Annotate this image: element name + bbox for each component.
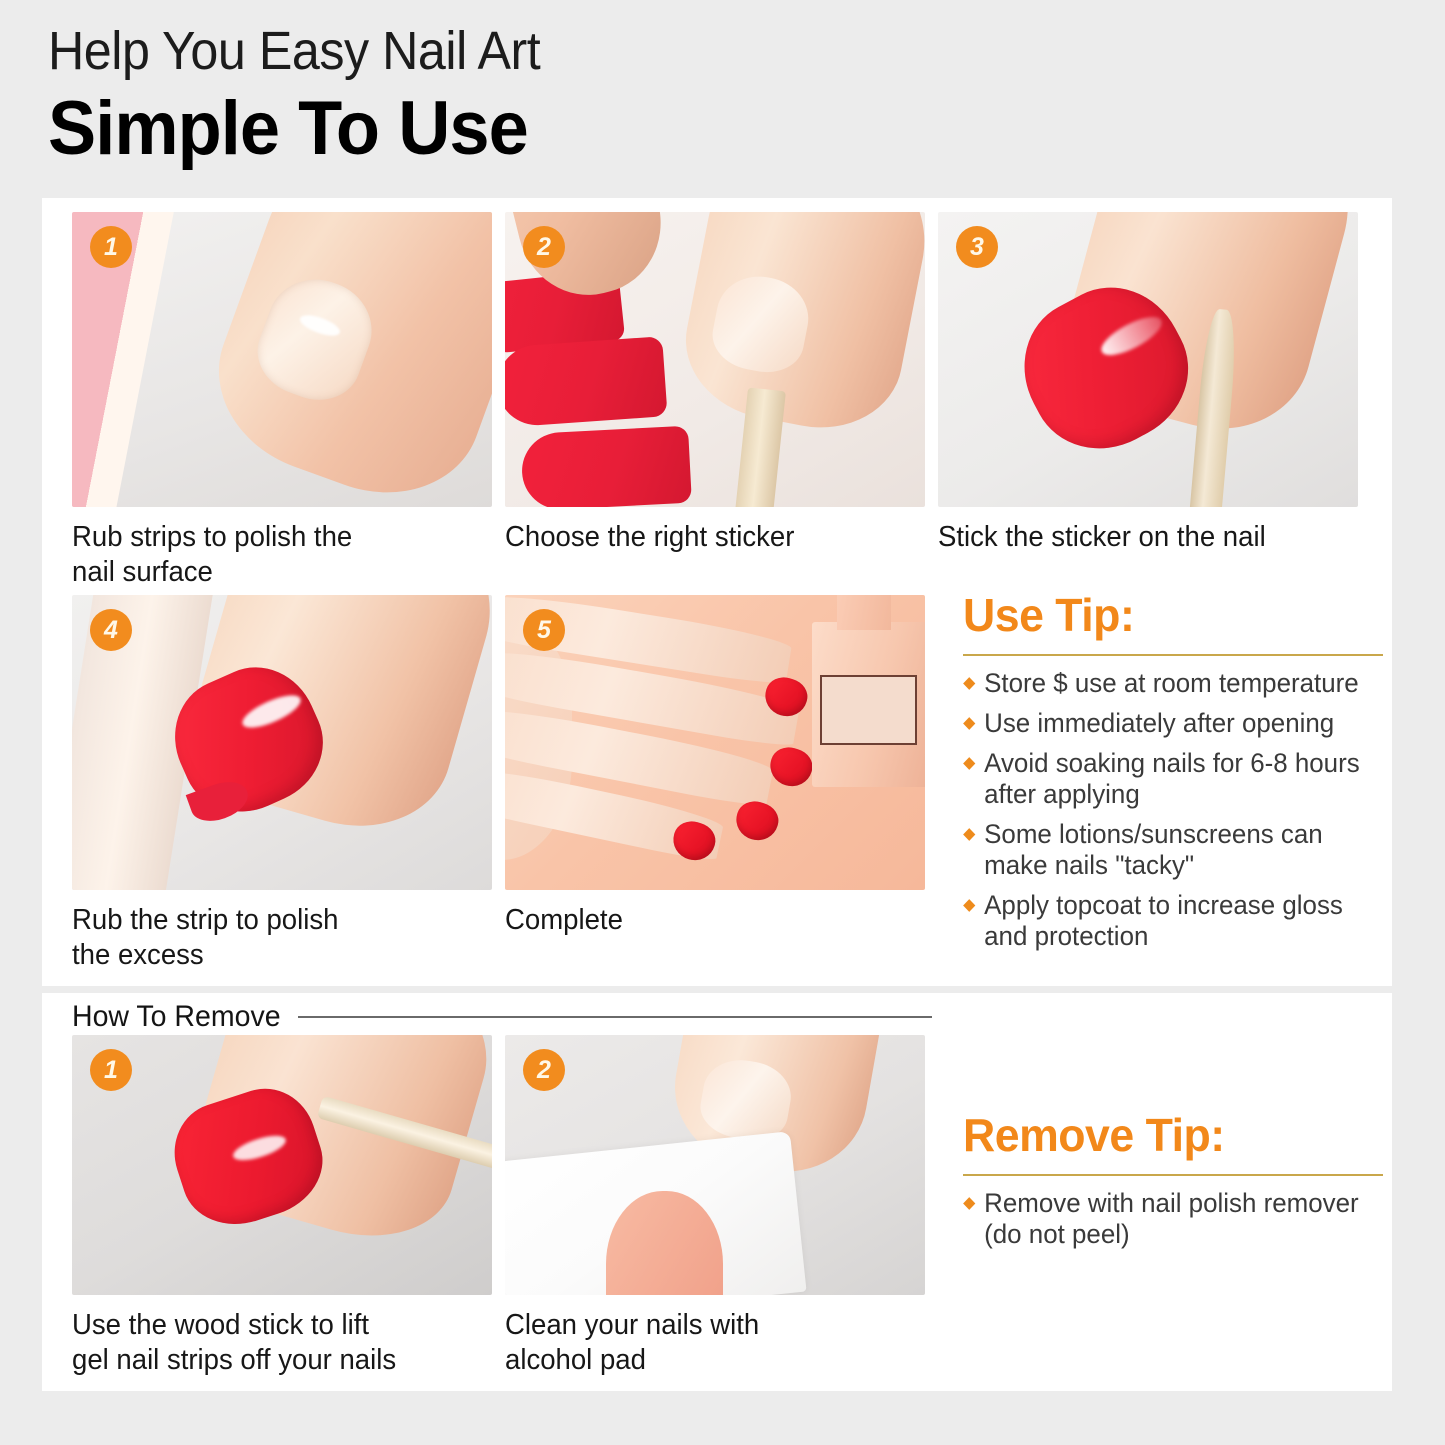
step-2-caption: Choose the right sticker [505, 520, 904, 555]
remove-tip-list: Remove with nail polish remover (do not … [963, 1188, 1383, 1250]
infographic-page: Help You Easy Nail Art Simple To Use 1 R… [0, 0, 1445, 1445]
remove-step-2: 2 Clean your nails with alcohol pad [505, 1035, 925, 1379]
remove-step-1-photo: 1 [72, 1035, 492, 1295]
remove-tip-item: Remove with nail polish remover (do not … [963, 1188, 1366, 1250]
use-tip-item-text: Store $ use at room temperature [984, 668, 1359, 698]
use-tip-panel: Use Tip: Store $ use at room temperature… [963, 592, 1383, 961]
remove-step-1-badge: 1 [90, 1049, 132, 1091]
use-tip-item: Apply topcoat to increase gloss and prot… [963, 890, 1366, 952]
diamond-bullet-icon [963, 1197, 975, 1210]
remove-step-2-photo: 2 [505, 1035, 925, 1295]
step-4-photo: 4 [72, 595, 492, 890]
diamond-bullet-icon [963, 828, 975, 841]
step-1-caption: Rub strips to polish the nail surface [72, 520, 471, 591]
remove-section-heading: How To Remove [72, 1000, 932, 1034]
red-strip-3 [520, 426, 692, 507]
remove-step-2-badge: 2 [523, 1049, 565, 1091]
red-nail-2 [765, 743, 816, 791]
step-2: 2 Choose the right sticker [505, 212, 925, 591]
use-tip-item: Use immediately after opening [963, 708, 1366, 739]
heading-divider [298, 1016, 932, 1018]
step-3-caption: Stick the sticker on the nail [938, 520, 1337, 555]
step-3: 3 Stick the sticker on the nail [938, 212, 1358, 591]
use-tip-rule [963, 654, 1383, 656]
step-1: 1 Rub strips to polish the nail surface [72, 212, 492, 591]
remove-step-1-caption: Use the wood stick to lift gel nail stri… [72, 1308, 471, 1379]
page-header: Help You Easy Nail Art Simple To Use [48, 24, 1388, 170]
step-3-badge: 3 [956, 226, 998, 268]
step-1-photo: 1 [72, 212, 492, 507]
step-2-badge: 2 [523, 226, 565, 268]
use-tip-item-text: Avoid soaking nails for 6-8 hours after … [984, 748, 1360, 809]
remove-tip-panel: Remove Tip: Remove with nail polish remo… [963, 1112, 1383, 1259]
use-tip-item: Some lotions/sunscreens can make nails "… [963, 819, 1366, 881]
step-4-caption: Rub the strip to polish the excess [72, 903, 471, 974]
remove-tip-title: Remove Tip: [963, 1112, 1370, 1158]
step-5-badge: 5 [523, 609, 565, 651]
use-tip-list: Store $ use at room temperature Use imme… [963, 668, 1383, 952]
bottle-label [820, 675, 917, 746]
step-4-badge: 4 [90, 609, 132, 651]
remove-tip-item-text: Remove with nail polish remover (do not … [984, 1188, 1359, 1249]
apply-steps-row-bottom: 4 Rub the strip to polish the excess 5 [72, 595, 925, 974]
step-5: 5 Complete [505, 595, 925, 974]
remove-step-1: 1 Use the wood stick to lift gel nail st… [72, 1035, 492, 1379]
step-5-caption: Complete [505, 903, 904, 938]
use-tip-title: Use Tip: [963, 592, 1370, 638]
remove-step-2-caption: Clean your nails with alcohol pad [505, 1308, 904, 1379]
diamond-bullet-icon [963, 899, 975, 912]
bottle-cap [837, 595, 892, 630]
remove-steps-row: 1 Use the wood stick to lift gel nail st… [72, 1035, 925, 1379]
use-tip-item: Avoid soaking nails for 6-8 hours after … [963, 748, 1366, 810]
step-5-photo: 5 [505, 595, 925, 890]
use-tip-item-text: Use immediately after opening [984, 708, 1334, 738]
remove-tip-rule [963, 1174, 1383, 1176]
use-tip-item-text: Some lotions/sunscreens can make nails "… [984, 819, 1323, 880]
step-1-badge: 1 [90, 226, 132, 268]
use-tip-item-text: Apply topcoat to increase gloss and prot… [984, 890, 1343, 951]
diamond-bullet-icon [963, 757, 975, 770]
step-2-photo: 2 [505, 212, 925, 507]
use-tip-item: Store $ use at room temperature [963, 668, 1366, 699]
step-4: 4 Rub the strip to polish the excess [72, 595, 492, 974]
red-strip-2 [505, 336, 667, 427]
diamond-bullet-icon [963, 677, 975, 690]
diamond-bullet-icon [963, 717, 975, 730]
step-3-photo: 3 [938, 212, 1358, 507]
red-nail-3 [732, 796, 783, 844]
apply-steps-row-top: 1 Rub strips to polish the nail surface … [72, 212, 1358, 591]
remove-heading-text: How To Remove [72, 1000, 281, 1034]
page-title: Simple To Use [48, 88, 1321, 170]
header-subtitle: Help You Easy Nail Art [48, 24, 1294, 78]
